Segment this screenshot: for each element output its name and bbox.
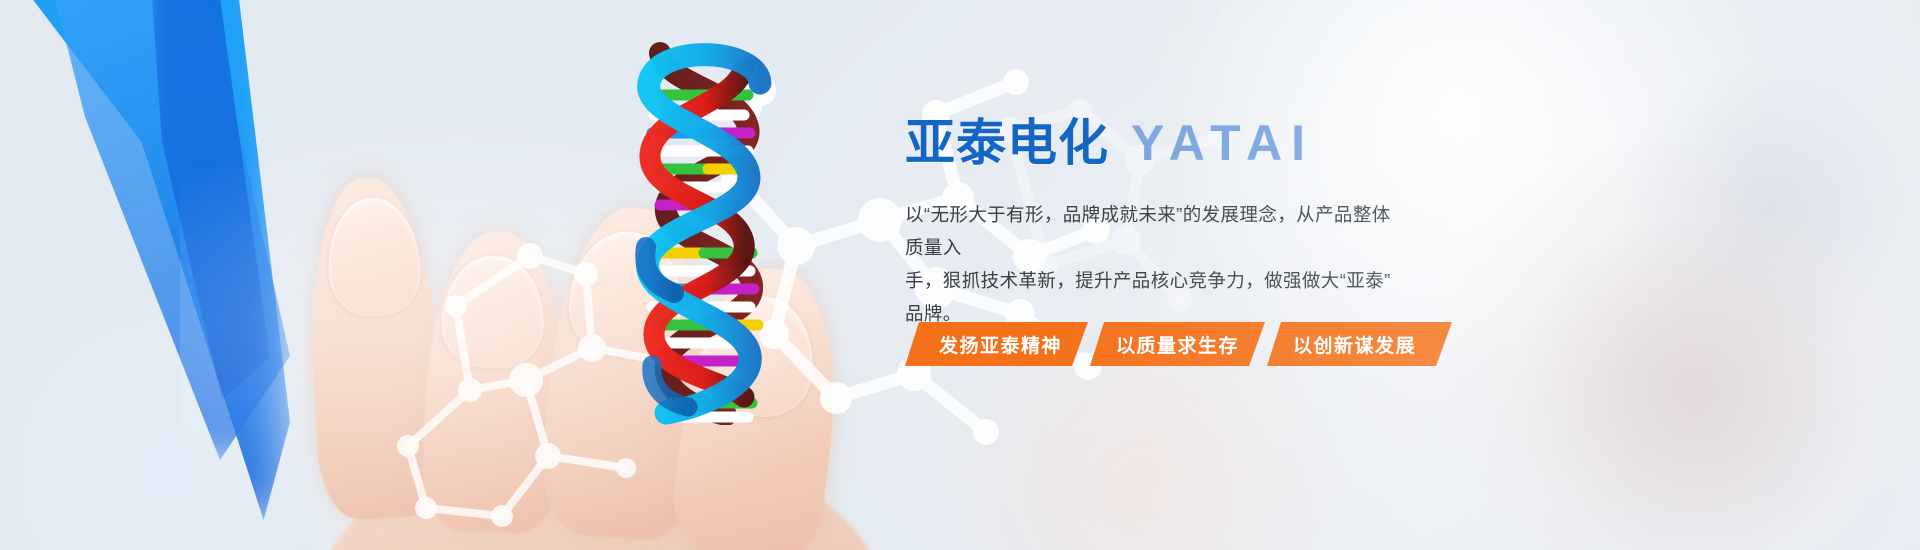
company-hero-banner: 亚泰电化YATAI 以“无形大于有形，品牌成就未来”的发展理念，从产品整体质量入… [0, 0, 1920, 550]
background-blur-blob-center-right [1500, 220, 1880, 550]
slogan-tag-group: 发扬亚泰精神 以质量求生存 以创新谋发展 [905, 322, 1454, 366]
slogan-line-1: 以“无形大于有形，品牌成就未来”的发展理念，从产品整体质量入 [905, 198, 1409, 264]
slogan-tag-1[interactable]: 发扬亚泰精神 [905, 322, 1088, 366]
hero-text-block: 亚泰电化YATAI 以“无形大于有形，品牌成就未来”的发展理念，从产品整体质量入… [905, 118, 1525, 354]
background-blur-blob-top-right [1620, 60, 1920, 360]
slogan-line-2: 手，狠抓技术革新，提升产品核心竞争力，做强做大“亚泰”品牌。 [905, 264, 1409, 330]
company-slogan-paragraph: 以“无形大于有形，品牌成就未来”的发展理念，从产品整体质量入 手，狠抓技术革新，… [905, 198, 1409, 330]
slogan-tag-2[interactable]: 以质量求生存 [1090, 322, 1265, 366]
page-title: 亚泰电化YATAI [905, 118, 1525, 168]
company-name-english: YATAI [1131, 115, 1314, 171]
dna-double-helix-icon [608, 35, 798, 425]
company-name-chinese: 亚泰电化 [905, 115, 1109, 171]
slogan-tag-3[interactable]: 以创新谋发展 [1267, 322, 1452, 366]
